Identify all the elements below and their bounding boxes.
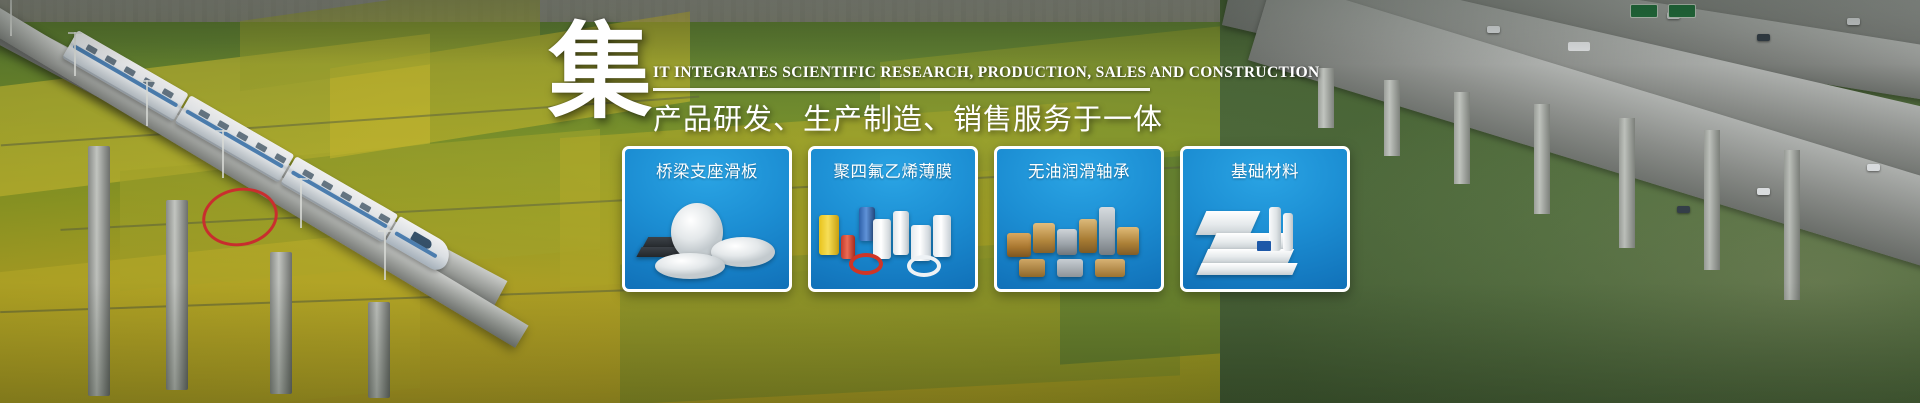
product-card-image-ptfe-film-rolls: [811, 189, 975, 289]
car: [1757, 188, 1770, 195]
block-shape: [1196, 211, 1261, 235]
hero-banner: 集 IT INTEGRATES SCIENTIFIC RESEARCH, PRO…: [0, 0, 1920, 403]
bushing-shape: [1079, 219, 1097, 253]
bushing-shape: [1057, 259, 1083, 277]
product-card-image-base-materials: [1183, 189, 1347, 289]
bridge-pier: [1384, 80, 1400, 156]
bushing-shape: [1117, 227, 1139, 255]
product-card-bridge-bearing-plate[interactable]: 桥梁支座滑板: [622, 146, 792, 292]
bushing-shape: [1057, 229, 1077, 255]
highway-sign: [1668, 4, 1696, 18]
catenary-pole: [10, 0, 12, 36]
product-card-title: 聚四氟乙烯薄膜: [811, 158, 975, 182]
catenary-pole: [74, 32, 76, 76]
bridge-pier: [1784, 150, 1800, 300]
roll-shape: [873, 219, 891, 259]
catenary-pole: [222, 130, 224, 178]
roll-shape: [933, 215, 951, 257]
ring-shape: [849, 253, 883, 275]
bridge-pier: [1704, 130, 1720, 270]
blue-label-tag: [1257, 241, 1271, 251]
disc-shape: [655, 253, 725, 279]
roll-shape: [893, 211, 909, 255]
bushing-shape: [1033, 223, 1055, 253]
headline-english-tagline: IT INTEGRATES SCIENTIFIC RESEARCH, PRODU…: [653, 64, 1150, 82]
product-card-image-ptfe-sliding-plate: [625, 189, 789, 289]
ring-shape: [907, 255, 941, 277]
catenary-pole: [384, 230, 386, 280]
bridge-pier: [1619, 118, 1635, 248]
block-shape: [1202, 249, 1294, 263]
headline-chinese-subtitle: 产品研发、生产制造、销售服务于一体: [653, 96, 1163, 138]
product-card-ptfe-film[interactable]: 聚四氟乙烯薄膜: [808, 146, 978, 292]
bridge-pier: [1318, 68, 1334, 128]
headline-big-character: 集: [548, 20, 652, 124]
roll-shape: [819, 215, 839, 255]
product-card-title: 桥梁支座滑板: [625, 158, 789, 182]
truck: [1568, 42, 1590, 51]
product-card-base-material[interactable]: 基础材料: [1180, 146, 1350, 292]
headline-block: 集 IT INTEGRATES SCIENTIFIC RESEARCH, PRO…: [548, 18, 1148, 136]
car: [1677, 206, 1690, 213]
bridge-pier: [1454, 92, 1470, 184]
bushing-shape: [1019, 259, 1045, 277]
car: [1757, 34, 1770, 41]
product-card-image-oil-free-bearings: [997, 189, 1161, 289]
car: [1867, 164, 1880, 171]
catenary-pole: [300, 178, 302, 228]
bushing-shape: [1095, 259, 1125, 277]
product-card-title: 基础材料: [1183, 158, 1347, 182]
block-shape: [1196, 263, 1297, 275]
car: [1847, 18, 1860, 25]
product-card-oil-free-bearing[interactable]: 无油润滑轴承: [994, 146, 1164, 292]
product-card-list: 桥梁支座滑板 聚四氟乙烯薄膜: [622, 146, 1350, 292]
bridge-pier: [1534, 104, 1550, 214]
highway-sign: [1630, 4, 1658, 18]
bushing-shape: [1099, 207, 1115, 255]
catenary-pole: [146, 80, 148, 126]
rod-shape: [1283, 213, 1293, 251]
bushing-shape: [1007, 233, 1031, 257]
product-card-title: 无油润滑轴承: [997, 158, 1161, 182]
headline-divider: [653, 88, 1150, 91]
car: [1487, 26, 1500, 33]
